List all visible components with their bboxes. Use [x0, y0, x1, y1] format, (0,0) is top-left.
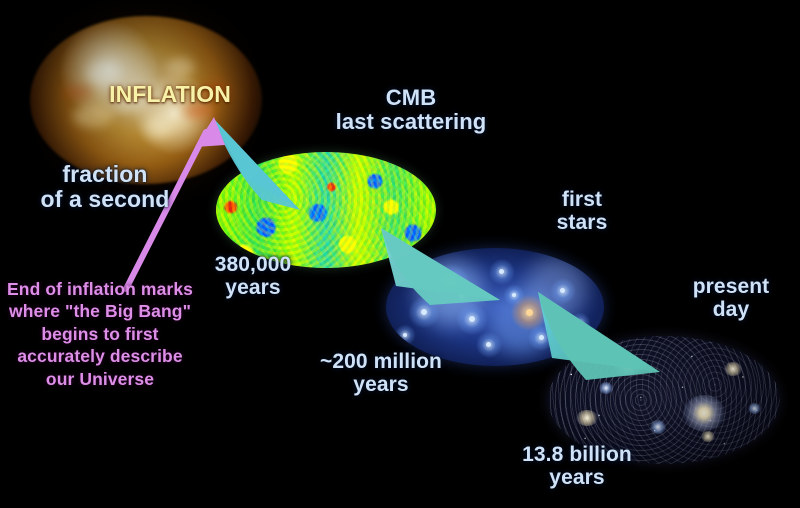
time-label-380000-years: 380,000 years — [178, 254, 328, 299]
time-label-200-million-years: ~200 million years — [296, 351, 466, 396]
time-label-13-8-billion-years: 13.8 billion years — [472, 444, 682, 489]
big-bang-annotation: End of inflation marks where "the Big Ba… — [2, 278, 198, 390]
cosmic-timeline-figure: INFLATION fraction of a second End of in… — [0, 0, 800, 508]
first-stars-label: first stars — [516, 189, 648, 234]
connector-layer — [0, 0, 800, 508]
cmb-last-scattering-label: CMB last scattering — [320, 86, 502, 134]
present-day-label: present day — [668, 276, 794, 321]
cone-cmb-to-first-stars-body — [381, 228, 500, 305]
cone-first-stars-to-present-body — [538, 292, 660, 380]
inflation-title: INFLATION — [100, 82, 240, 107]
cone-inflation-to-cmb-body — [213, 118, 300, 210]
fraction-of-second-label: fraction of a second — [20, 162, 190, 212]
